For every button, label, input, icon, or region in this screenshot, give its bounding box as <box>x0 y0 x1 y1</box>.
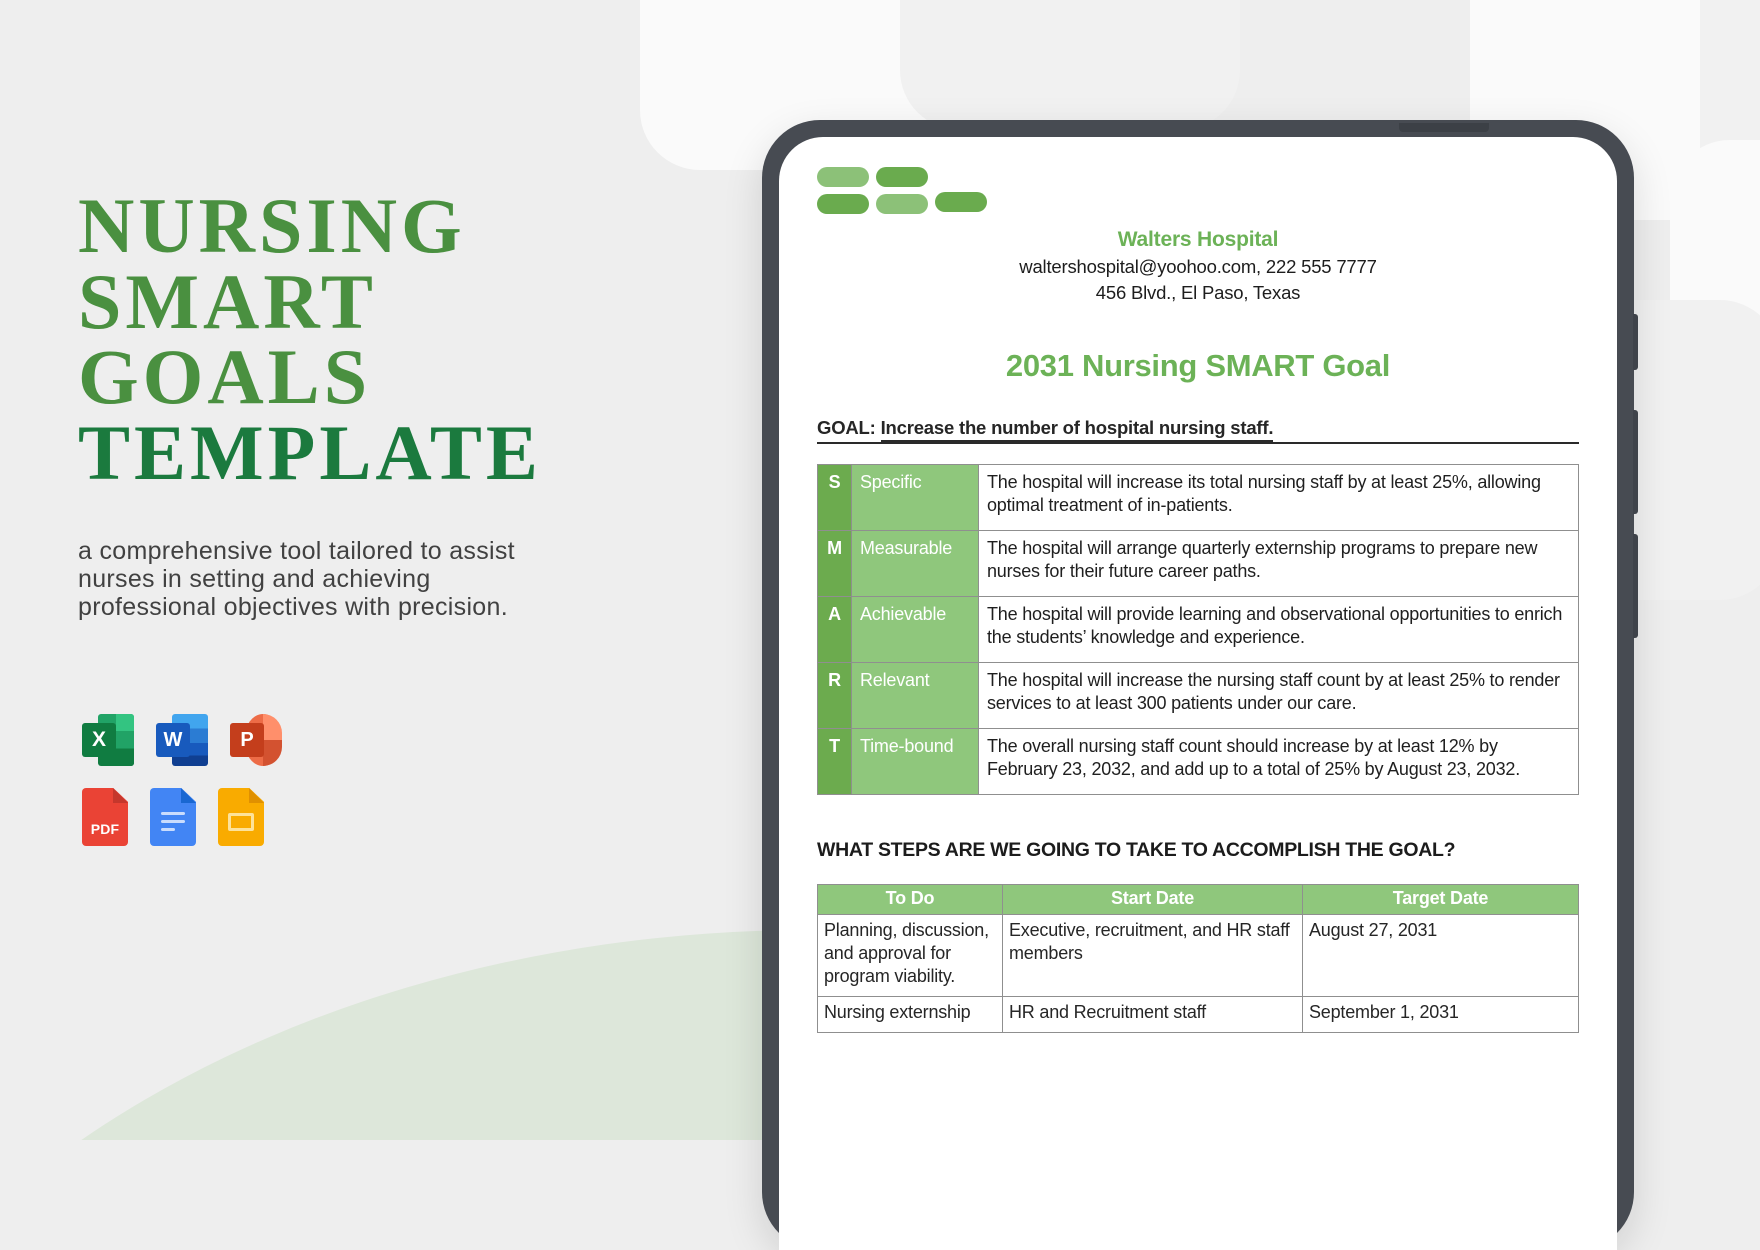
google-slides-icon-frame <box>228 813 254 831</box>
smart-letter: R <box>818 663 852 729</box>
logo-bar-2 <box>817 194 869 214</box>
smart-goal-document: Walters Hospital waltershospital@yoohoo.… <box>779 137 1617 1250</box>
phone-screen: Walters Hospital waltershospital@yoohoo.… <box>779 137 1617 1250</box>
smart-label: Relevant <box>852 663 979 729</box>
powerpoint-icon[interactable]: P <box>230 712 282 768</box>
page-title-line-3: GOALS <box>78 339 638 415</box>
table-row: S Specific The hospital will increase it… <box>818 465 1579 531</box>
organization-contact: waltershospital@yoohoo.com, 222 555 7777 <box>817 256 1579 278</box>
word-icon[interactable]: W <box>156 712 208 768</box>
powerpoint-icon-letter: P <box>230 723 264 757</box>
smart-letter: T <box>818 729 852 795</box>
smart-table: S Specific The hospital will increase it… <box>817 464 1579 795</box>
powerpoint-icon-wedge-bottom <box>263 740 282 766</box>
goal-statement: GOAL: Increase the number of hospital nu… <box>817 417 1579 444</box>
steps-cell-todo: Nursing externship <box>818 997 1003 1033</box>
smart-letter: M <box>818 531 852 597</box>
document-title: 2031 Nursing SMART Goal <box>817 348 1579 384</box>
pdf-icon-label: PDF <box>82 821 128 837</box>
steps-table-head: To Do Start Date Target Date <box>818 885 1579 915</box>
steps-cell-target: September 1, 2031 <box>1303 997 1579 1033</box>
organization-block: Walters Hospital waltershospital@yoohoo.… <box>817 228 1579 304</box>
google-docs-icon-fold <box>181 788 196 803</box>
google-docs-icon[interactable] <box>150 788 196 846</box>
steps-header-row: To Do Start Date Target Date <box>818 885 1579 915</box>
logo-column-1 <box>817 167 869 214</box>
table-row: M Measurable The hospital will arrange q… <box>818 531 1579 597</box>
goal-label: GOAL: <box>817 417 876 438</box>
phone-mockup: Walters Hospital waltershospital@yoohoo.… <box>762 120 1634 1250</box>
table-row: T Time-bound The overall nursing staff c… <box>818 729 1579 795</box>
steps-table: To Do Start Date Target Date Planning, d… <box>817 884 1579 1033</box>
steps-cell-target: August 27, 2031 <box>1303 915 1579 997</box>
smart-letter: A <box>818 597 852 663</box>
google-docs-icon-lines <box>161 812 185 836</box>
table-row: A Achievable The hospital will provide l… <box>818 597 1579 663</box>
page-subtitle: a comprehensive tool tailored to assist … <box>78 537 568 621</box>
smart-description: The overall nursing staff count should i… <box>979 729 1579 795</box>
steps-cell-start: HR and Recruitment staff <box>1003 997 1303 1033</box>
page-title-line-4: TEMPLATE <box>78 415 638 491</box>
file-format-row-office: X W P <box>82 712 342 768</box>
smart-label: Measurable <box>852 531 979 597</box>
table-row: Nursing externship HR and Recruitment st… <box>818 997 1579 1033</box>
pdf-icon-fold <box>113 788 128 803</box>
smart-label: Specific <box>852 465 979 531</box>
logo-column-3 <box>935 192 987 212</box>
organization-address: 456 Blvd., El Paso, Texas <box>817 282 1579 304</box>
steps-column-header-todo: To Do <box>818 885 1003 915</box>
hero-section: NURSING SMART GOALS TEMPLATE a comprehen… <box>78 188 638 621</box>
smart-label: Achievable <box>852 597 979 663</box>
steps-column-header-target: Target Date <box>1303 885 1579 915</box>
bg-square-6 <box>900 0 1240 130</box>
organization-name: Walters Hospital <box>817 228 1579 252</box>
logo-bar-4 <box>876 194 928 214</box>
logo-bar-1 <box>817 167 869 187</box>
smart-letter: S <box>818 465 852 531</box>
phone-button-volume-up[interactable] <box>1633 410 1638 514</box>
page-title: NURSING SMART GOALS TEMPLATE <box>78 188 638 491</box>
file-format-icons: X W P PDF <box>82 712 342 863</box>
smart-description: The hospital will provide learning and o… <box>979 597 1579 663</box>
smart-description: The hospital will arrange quarterly exte… <box>979 531 1579 597</box>
google-slides-icon[interactable] <box>218 788 264 846</box>
phone-speaker <box>1399 123 1489 132</box>
logo-column-2 <box>876 167 928 214</box>
table-row: R Relevant The hospital will increase th… <box>818 663 1579 729</box>
page-title-line-1: NURSING <box>78 188 638 264</box>
steps-column-header-start: Start Date <box>1003 885 1303 915</box>
goal-text: Increase the number of hospital nursing … <box>881 417 1274 442</box>
powerpoint-icon-wedge-top <box>263 714 282 740</box>
excel-icon-letter: X <box>82 723 116 757</box>
steps-table-body: Planning, discussion, and approval for p… <box>818 915 1579 1033</box>
file-format-row-google: PDF <box>82 788 342 846</box>
smart-description: The hospital will increase its total nur… <box>979 465 1579 531</box>
pdf-icon[interactable]: PDF <box>82 788 128 846</box>
phone-button-volume-down[interactable] <box>1633 534 1638 638</box>
excel-icon[interactable]: X <box>82 712 134 768</box>
steps-cell-start: Executive, recruitment, and HR staff mem… <box>1003 915 1303 997</box>
excel-icon-right <box>116 714 134 766</box>
table-row: Planning, discussion, and approval for p… <box>818 915 1579 997</box>
smart-description: The hospital will increase the nursing s… <box>979 663 1579 729</box>
logo-bar-5 <box>935 192 987 212</box>
word-icon-letter: W <box>156 723 190 757</box>
smart-label: Time-bound <box>852 729 979 795</box>
smart-table-body: S Specific The hospital will increase it… <box>818 465 1579 795</box>
google-slides-icon-fold <box>249 788 264 803</box>
page-title-line-2: SMART <box>78 264 638 340</box>
phone-button-mute[interactable] <box>1633 314 1638 370</box>
logo-bar-3 <box>876 167 928 187</box>
walters-hospital-logo <box>817 167 1579 219</box>
steps-section-heading: WHAT STEPS ARE WE GOING TO TAKE TO ACCOM… <box>817 839 1579 862</box>
steps-cell-todo: Planning, discussion, and approval for p… <box>818 915 1003 997</box>
